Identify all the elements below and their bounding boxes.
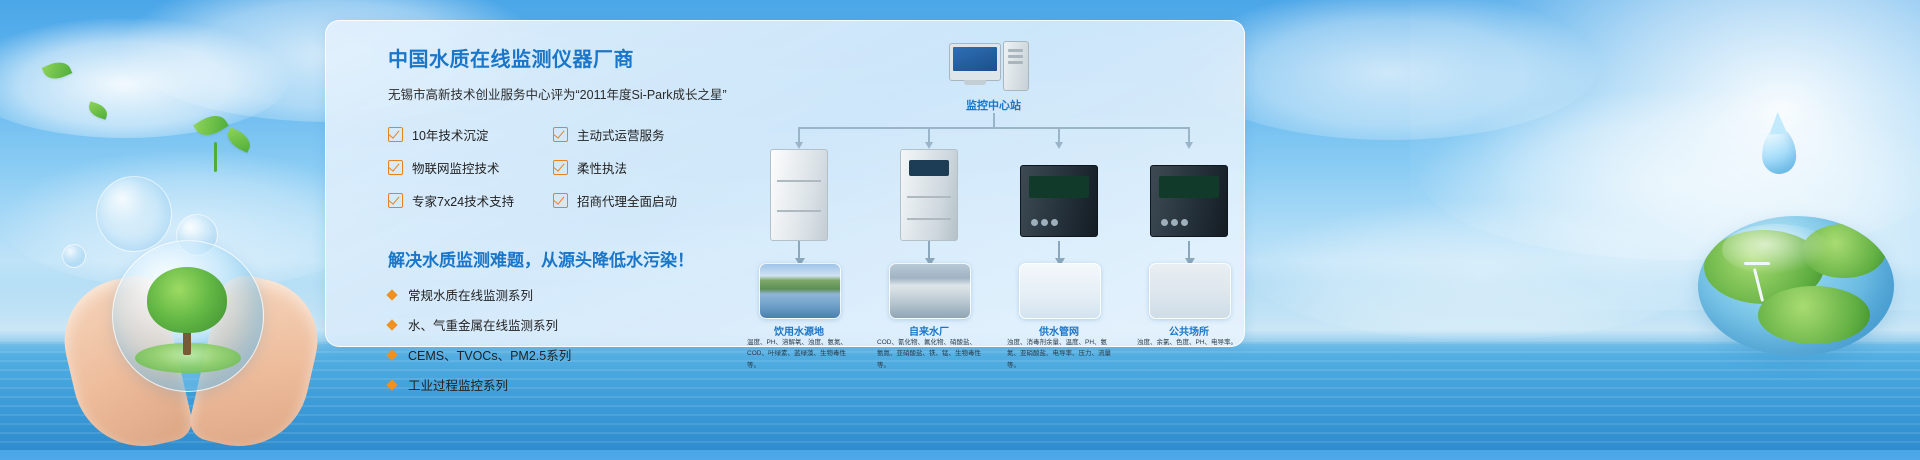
device-analyzer-4 — [1136, 165, 1240, 237]
eco-earth-illustration — [1698, 216, 1894, 356]
feature-checklist: 10年技术沉淀 主动式运营服务 物联网监控技术 柔性执法 专家7x24技术支持 … — [388, 125, 718, 224]
topology-branch-4 — [1188, 127, 1190, 143]
node-label-4: 公共场所 — [1137, 323, 1241, 338]
eco-sphere — [112, 240, 264, 392]
section-title: 解决水质监测难题，从源头降低水污染！ — [388, 246, 728, 271]
feature-label: 物联网监控技术 — [412, 158, 500, 177]
node-desc-3: 浊度、消毒剂余量、温度、PH、氨氮、亚硝酸盐、电导率、压力、流量等。 — [1007, 337, 1111, 371]
check-icon — [388, 127, 403, 142]
sprout-stem — [214, 142, 217, 172]
earth-highlight — [1722, 224, 1832, 274]
check-icon — [553, 193, 568, 208]
tree-crown — [147, 267, 227, 333]
cabinet-body — [770, 149, 828, 241]
check-icon — [388, 160, 403, 175]
check-icon — [553, 160, 568, 175]
diamond-bullet-icon — [386, 349, 397, 360]
node-label-2: 自来水厂 — [877, 323, 981, 338]
cabinet-strip — [777, 180, 821, 182]
list-item[interactable]: 水、气重金属在线监测系列 — [388, 315, 728, 334]
list-item[interactable]: CEMS、TVOCs、PM2.5系列 — [388, 345, 728, 364]
topology-trunk-vertical — [993, 113, 995, 127]
diamond-bullet-icon — [386, 289, 397, 300]
diamond-bullet-icon — [386, 319, 397, 330]
check-icon — [388, 193, 403, 208]
list-item[interactable]: 常规水质在线监测系列 — [388, 285, 728, 304]
monitor-screen — [953, 47, 997, 71]
scene-photo-public-place — [1149, 263, 1231, 319]
cloud-1 — [0, 18, 290, 138]
feature-label: 柔性执法 — [577, 158, 627, 177]
topology-branch-1 — [798, 127, 800, 143]
analyzer-keypad — [1031, 219, 1058, 226]
water-droplet-icon — [1761, 127, 1797, 174]
wind-turbine-blade — [1744, 262, 1770, 265]
series-label: 工业过程监控系列 — [408, 375, 508, 394]
scene-photo-pipe-network — [1019, 263, 1101, 319]
analyzer-body — [1020, 165, 1098, 237]
monitoring-center-computer-icon — [949, 41, 1035, 93]
analyzer-display — [1029, 176, 1089, 198]
check-icon — [553, 127, 568, 142]
earth-land-3 — [1758, 286, 1870, 344]
bubble-large — [96, 176, 172, 252]
analyzer-body — [1150, 165, 1228, 237]
feature-label: 主动式运营服务 — [577, 125, 665, 144]
analyzer-display — [1159, 176, 1219, 198]
cabinet-strip — [907, 218, 951, 220]
feature-item: 主动式运营服务 — [553, 125, 718, 144]
series-label: 水、气重金属在线监测系列 — [408, 315, 558, 334]
feature-label: 专家7x24技术支持 — [412, 191, 514, 210]
device-cabinet-1 — [746, 149, 850, 241]
page-subtitle: 无锡市高新技术创业服务中心评为“2011年度Si-Park成长之星” — [388, 84, 728, 103]
feature-item: 专家7x24技术支持 — [388, 191, 553, 210]
cabinet-body — [900, 149, 958, 241]
pc-tower-icon — [1003, 41, 1029, 91]
leaf-1 — [42, 57, 73, 83]
device-cabinet-2 — [876, 149, 980, 241]
feature-label: 10年技术沉淀 — [412, 125, 488, 144]
leaf-4 — [224, 127, 254, 153]
product-series-list: 常规水质在线监测系列 水、气重金属在线监测系列 CEMS、TVOCs、PM2.5… — [388, 285, 728, 394]
feature-label: 招商代理全面启动 — [577, 191, 677, 210]
hero-panel: 中国水质在线监测仪器厂商 无锡市高新技术创业服务中心评为“2011年度Si-Pa… — [325, 20, 1245, 347]
center-node-label: 监控中心站 — [906, 97, 1081, 113]
page-title: 中国水质在线监测仪器厂商 — [388, 43, 728, 72]
series-label: 常规水质在线监测系列 — [408, 285, 533, 304]
node-desc-1: 温度、PH、溶解氧、浊度、氨氮、COD、叶绿素、蓝绿藻、生物毒性等。 — [747, 337, 851, 371]
feature-item: 招商代理全面启动 — [553, 191, 718, 210]
list-item[interactable]: 工业过程监控系列 — [388, 375, 728, 394]
cabinet-display — [909, 160, 949, 176]
topology-branch-3 — [1058, 127, 1060, 143]
feature-item: 柔性执法 — [553, 158, 718, 177]
flow-arrow-2 — [928, 241, 930, 259]
topology-branch-2 — [928, 127, 930, 143]
leaf-3 — [193, 109, 229, 141]
analyzer-keypad — [1161, 219, 1188, 226]
node-desc-2: COD、氰化物、氟化物、硝酸盐、氨氮、亚硝酸盐、铁、锰、生物毒性等。 — [877, 337, 981, 371]
node-label-1: 饮用水源地 — [747, 323, 851, 338]
node-label-3: 供水管网 — [1007, 323, 1111, 338]
node-desc-4: 浊度、余氯、色度、PH、电导率。 — [1137, 337, 1241, 348]
leaf-2 — [86, 101, 109, 120]
topology-trunk-horizontal — [798, 127, 1188, 129]
flow-arrow-1 — [798, 241, 800, 259]
series-label: CEMS、TVOCs、PM2.5系列 — [408, 345, 571, 364]
hero-text-column: 中国水质在线监测仪器厂商 无锡市高新技术创业服务中心评为“2011年度Si-Pa… — [388, 43, 728, 405]
system-topology-diagram: 监控中心站 — [756, 31, 1226, 341]
feature-item: 物联网监控技术 — [388, 158, 553, 177]
flow-arrow-3 — [1058, 241, 1060, 259]
flow-arrow-4 — [1188, 241, 1190, 259]
monitor-icon — [949, 43, 1001, 81]
diamond-bullet-icon — [386, 379, 397, 390]
device-analyzer-3 — [1006, 165, 1110, 237]
hands-holding-globe — [66, 250, 316, 450]
cabinet-strip — [777, 210, 821, 212]
monitor-stand — [964, 80, 986, 85]
feature-item: 10年技术沉淀 — [388, 125, 553, 144]
scene-photo-water-plant — [889, 263, 971, 319]
cabinet-strip — [907, 196, 951, 198]
scene-photo-water-source — [759, 263, 841, 319]
